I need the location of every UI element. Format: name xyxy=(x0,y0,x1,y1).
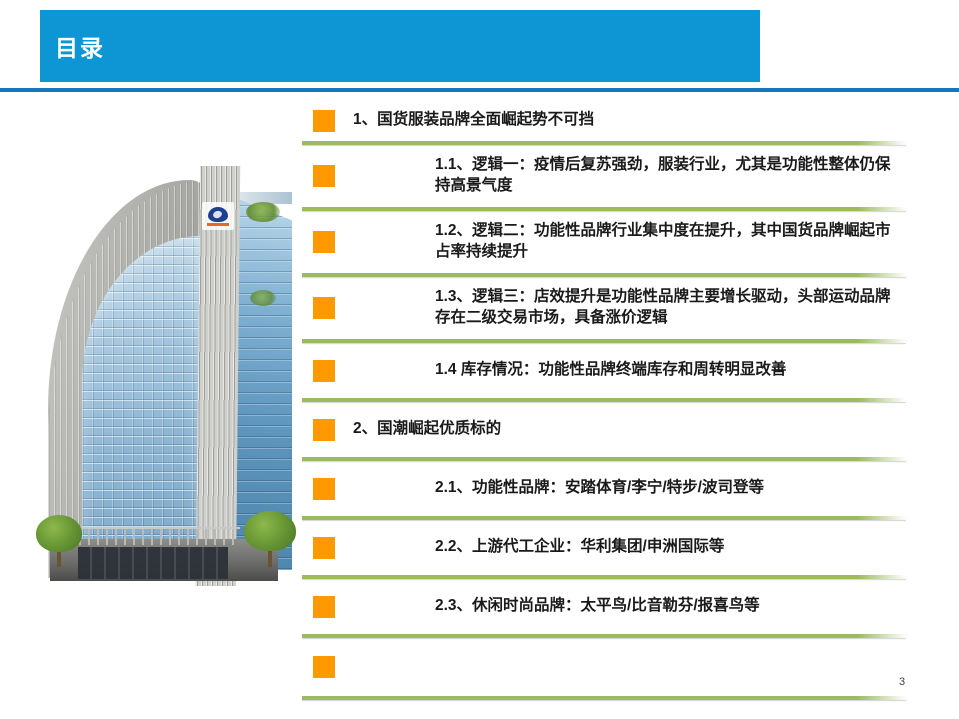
header-divider-rule xyxy=(0,88,959,92)
toc-item-1-4[interactable]: 1.4 库存情况：功能性品牌终端库存和周转明显改善 xyxy=(302,343,906,398)
bullet-square-icon xyxy=(313,419,335,441)
bullet-square-icon xyxy=(313,297,335,319)
bullet-square-icon xyxy=(313,478,335,500)
logo-underline-icon xyxy=(207,223,229,226)
toc-item-label: 2.1、功能性品牌：安踏体育/李宁/特步/波司登等 xyxy=(349,478,906,499)
toc-item-label: 2.3、休闲时尚品牌：太平鸟/比音勒芬/报喜鸟等 xyxy=(349,596,906,617)
toc-item-label: 1.4 库存情况：功能性品牌终端库存和周转明显改善 xyxy=(349,360,906,381)
toc-item-1-1[interactable]: 1.1、逻辑一：疫情后复苏强劲，服装行业，尤其是功能性整体仍保持高景气度 xyxy=(302,145,906,207)
toc-item-label: 2.2、上游代工企业：华利集团/申洲国际等 xyxy=(349,537,906,558)
bullet-square-icon xyxy=(313,165,335,187)
roof-garden-lower-icon xyxy=(250,290,276,306)
slide-root: 目录 xyxy=(0,0,959,719)
bullet-square-icon xyxy=(313,537,335,559)
toc-item-2-2[interactable]: 2.2、上游代工企业：华利集团/申洲国际等 xyxy=(302,520,906,575)
toc-item-2-1[interactable]: 2.1、功能性品牌：安踏体育/李宁/特步/波司登等 xyxy=(302,461,906,516)
bullet-square-icon xyxy=(313,360,335,382)
roof-garden-icon xyxy=(246,202,280,222)
toc-item-2[interactable]: 2、国潮崛起优质标的 xyxy=(302,402,906,457)
tree-crown xyxy=(244,511,296,551)
toc-item-1-2[interactable]: 1.2、逻辑二：功能性品牌行业集中度在提升，其中国货品牌崛起市占率持续提升 xyxy=(302,211,906,273)
toc-item-label: 1.3、逻辑三：店效提升是功能性品牌主要增长驱动，头部运动品牌存在二级交易市场，… xyxy=(349,287,906,329)
toc-separator xyxy=(302,696,906,700)
logo-mark-icon xyxy=(208,207,228,222)
tree-crown xyxy=(36,515,82,552)
toc-item-1[interactable]: 1、国货服装品牌全面崛起势不可挡 xyxy=(302,100,906,141)
tower-railing xyxy=(70,527,240,545)
table-of-contents: 1、国货服装品牌全面崛起势不可挡 1.1、逻辑一：疫情后复苏强劲，服装行业，尤其… xyxy=(302,100,906,700)
bullet-square-icon xyxy=(313,231,335,253)
office-tower-photo xyxy=(30,140,290,585)
bullet-square-icon xyxy=(313,656,335,678)
tree-trunk xyxy=(57,552,61,567)
tree-right-icon xyxy=(244,511,296,567)
toc-item-1-3[interactable]: 1.3、逻辑三：店效提升是功能性品牌主要增长驱动，头部运动品牌存在二级交易市场，… xyxy=(302,277,906,339)
toc-item-label: 1.1、逻辑一：疫情后复苏强劲，服装行业，尤其是功能性整体仍保持高景气度 xyxy=(349,155,906,197)
tower-podium-glass xyxy=(78,547,228,579)
tower-graphic xyxy=(30,140,290,585)
toc-item-label: 1.2、逻辑二：功能性品牌行业集中度在提升，其中国货品牌崛起市占率持续提升 xyxy=(349,221,906,263)
toc-item-label: 2、国潮崛起优质标的 xyxy=(349,419,906,440)
bullet-square-icon xyxy=(313,110,335,132)
bullet-square-icon xyxy=(313,596,335,618)
tree-left-icon xyxy=(36,515,82,567)
tree-trunk xyxy=(268,551,272,567)
toc-item-label: 1、国货服装品牌全面崛起势不可挡 xyxy=(349,110,906,131)
toc-item-2-3[interactable]: 2.3、休闲时尚品牌：太平鸟/比音勒芬/报喜鸟等 xyxy=(302,579,906,634)
page-title: 目录 xyxy=(55,29,105,63)
corporate-logo xyxy=(202,202,234,230)
toc-item-empty[interactable] xyxy=(302,638,906,696)
page-number: 3 xyxy=(899,676,905,688)
title-bar: 目录 xyxy=(40,10,760,82)
